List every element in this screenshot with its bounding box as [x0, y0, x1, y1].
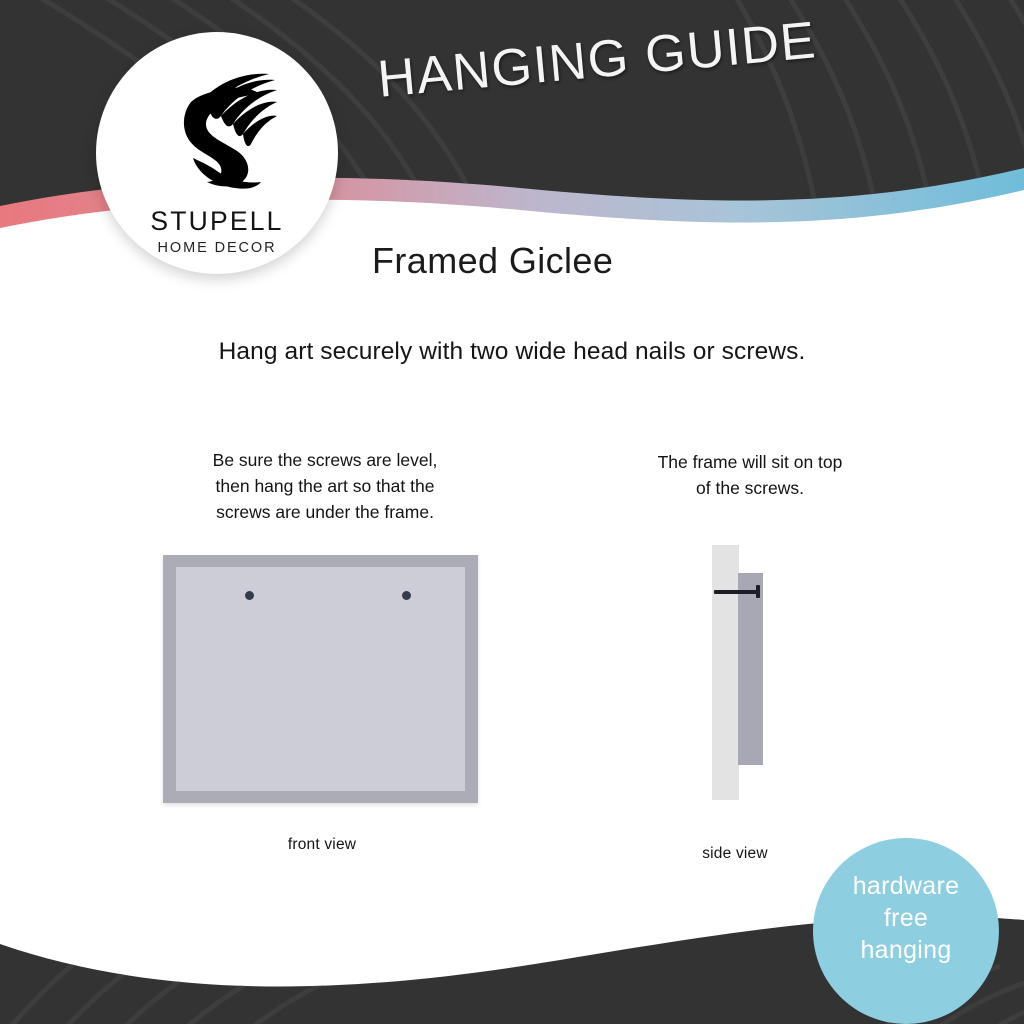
- badge-line: hanging: [813, 935, 999, 967]
- screw-head: [756, 585, 760, 598]
- badge-line: free: [813, 903, 999, 935]
- brand-name: STUPELL: [96, 208, 338, 236]
- badge-line: hardware: [813, 871, 999, 903]
- front-view-mat: [176, 567, 465, 791]
- brand-logo-badge: STUPELL HOME DECOR: [96, 32, 338, 274]
- frame-cross-section: [738, 573, 763, 765]
- product-name: Framed Giclee: [372, 240, 613, 282]
- hanging-guide-page: HANGING GUIDE STUPELL HOME DECOR Framed …: [0, 0, 1024, 1024]
- caption-line: Be sure the screws are level,: [160, 448, 490, 474]
- brand-tagline: HOME DECOR: [96, 240, 338, 256]
- side-view-caption: The frame will sit on top of the screws.: [600, 450, 900, 502]
- wall-cross-section: [712, 545, 739, 800]
- stupell-swan-swirl-icon: [157, 54, 277, 204]
- screw-shaft: [714, 590, 758, 594]
- side-view-diagram: [706, 540, 798, 808]
- caption-line: then hang the art so that the: [160, 474, 490, 500]
- hardware-free-hanging-badge: hardware free hanging: [813, 838, 999, 1024]
- front-view-label: front view: [190, 836, 454, 854]
- instruction-headline: Hang art securely with two wide head nai…: [0, 338, 1024, 366]
- screw-dot-left: [245, 591, 254, 600]
- caption-line: The frame will sit on top: [600, 450, 900, 476]
- caption-line: screws are under the frame.: [160, 500, 490, 526]
- front-view-caption: Be sure the screws are level, then hang …: [160, 448, 490, 526]
- front-view-diagram: [163, 555, 478, 803]
- screw-dot-right: [402, 591, 411, 600]
- brand-wordmark: STUPELL HOME DECOR: [96, 208, 338, 256]
- caption-line: of the screws.: [600, 476, 900, 502]
- page-title: HANGING GUIDE: [375, 10, 819, 110]
- screw-icon: [714, 585, 762, 598]
- badge-text: hardware free hanging: [813, 871, 999, 966]
- side-view-label: side view: [640, 845, 830, 863]
